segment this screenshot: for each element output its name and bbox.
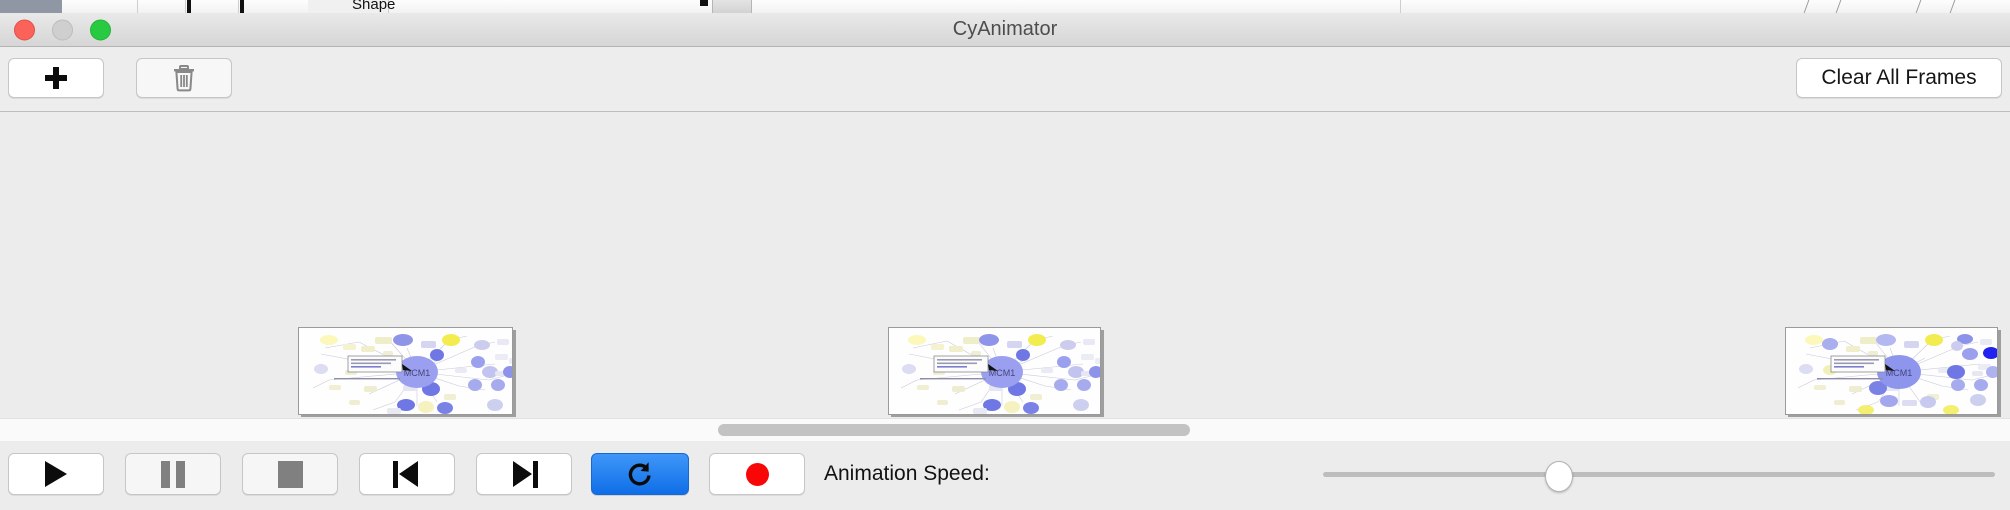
skip-to-start-button[interactable] xyxy=(359,453,455,495)
background-column-header-shape: Shape xyxy=(352,0,395,13)
background-grip xyxy=(712,0,752,13)
toolbar: Clear All Frames xyxy=(0,47,2010,112)
add-frame-button[interactable] xyxy=(8,58,104,98)
background-mark xyxy=(187,0,191,13)
pause-button[interactable] xyxy=(125,453,221,495)
timeline-panel[interactable]: MCM1 xyxy=(0,112,2010,417)
playback-control-bar: Animation Speed: xyxy=(0,441,2010,510)
clear-all-frames-label: Clear All Frames xyxy=(1821,66,1976,90)
slider-track[interactable] xyxy=(1323,472,1995,477)
background-window-strip: Shape xyxy=(0,0,2010,14)
background-cell xyxy=(62,0,138,13)
window-title: CyAnimator xyxy=(0,13,2010,46)
background-cell xyxy=(137,0,186,13)
network-graph-icon: MCM1 xyxy=(1786,328,1998,415)
background-selected-cell xyxy=(0,0,62,13)
network-graph-icon: MCM1 xyxy=(299,328,513,415)
timeline-scrollbar[interactable] xyxy=(0,418,2010,442)
plus-icon xyxy=(45,67,67,89)
background-divider xyxy=(1950,0,1956,13)
title-bar: CyAnimator xyxy=(0,13,2010,47)
keyframe-thumbnail[interactable]: MCM1 xyxy=(1785,327,1998,415)
background-mark xyxy=(240,0,244,13)
background-divider xyxy=(1836,0,1842,13)
record-button[interactable] xyxy=(709,453,805,495)
loop-icon xyxy=(627,460,653,488)
background-mark xyxy=(700,0,708,6)
delete-frame-button[interactable] xyxy=(136,58,232,98)
pause-icon xyxy=(161,461,185,488)
stop-icon xyxy=(278,461,303,488)
background-cell xyxy=(248,0,309,13)
network-thumbnail: MCM1 xyxy=(889,328,1100,414)
clear-all-frames-button[interactable]: Clear All Frames xyxy=(1796,58,2002,98)
stop-button[interactable] xyxy=(242,453,338,495)
keyframe-thumbnail[interactable]: MCM1 xyxy=(298,327,513,415)
cyanimator-window: Shape CyAnimator Cle xyxy=(0,0,2010,510)
scrollbar-thumb[interactable] xyxy=(718,424,1190,436)
network-thumbnail: MCM1 xyxy=(299,328,512,414)
network-thumbnail: MCM1 xyxy=(1786,328,1997,414)
background-cell xyxy=(780,0,1401,13)
play-icon xyxy=(45,461,67,487)
animation-speed-label: Animation Speed: xyxy=(824,453,990,495)
background-divider xyxy=(1916,0,1922,13)
trash-icon xyxy=(171,64,197,92)
loop-button[interactable] xyxy=(591,453,689,495)
skip-to-end-button[interactable] xyxy=(476,453,572,495)
animation-speed-slider[interactable] xyxy=(1323,453,1995,495)
skip-next-icon xyxy=(510,461,538,488)
skip-previous-icon xyxy=(393,461,421,488)
keyframe-thumbnail[interactable]: MCM1 xyxy=(888,327,1101,415)
play-button[interactable] xyxy=(8,453,104,495)
background-divider xyxy=(1804,0,1810,13)
slider-thumb[interactable] xyxy=(1545,461,1573,492)
record-icon xyxy=(746,463,769,486)
background-cell xyxy=(196,0,239,13)
network-graph-icon: MCM1 xyxy=(889,328,1101,415)
